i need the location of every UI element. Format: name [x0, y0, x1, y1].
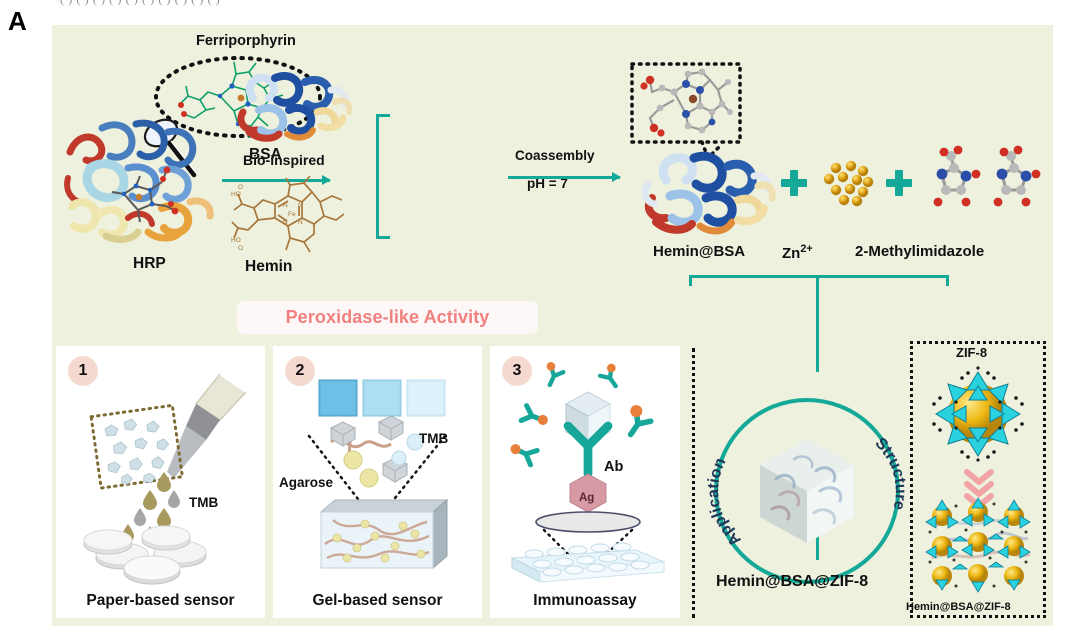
plus-sign-1	[781, 170, 807, 196]
peroxidase-activity-text: Peroxidase-like Activity	[237, 301, 538, 334]
svg-text:O: O	[238, 184, 243, 191]
zif8-title: ZIF-8	[956, 345, 987, 360]
coassembly-label: Coassembly	[515, 148, 595, 163]
wheel-label-structure: Structure	[714, 398, 900, 584]
bsa-protein-structure	[235, 68, 355, 148]
figure-root: ( ) ( ) ( ) ( ) ( ) ( ) ( ) ( ) ( ) ( ) …	[0, 0, 1080, 638]
methylimidazole-label: 2-Methylimidazole	[855, 243, 984, 260]
hemin-label: Hemin	[245, 258, 292, 276]
paper-sensor-illustration	[70, 368, 252, 583]
tmb-annotation-card1: TMB	[189, 495, 218, 510]
wheel-caption: Hemin@BSA@ZIF-8	[716, 573, 868, 591]
application-card-immunoassay[interactable]: 3	[490, 346, 680, 618]
card-title-paper-sensor: Paper-based sensor	[56, 592, 265, 610]
zinc-label: Zn2+	[782, 243, 813, 262]
ferriporphyrin-label: Ferriporphyrin	[196, 33, 296, 49]
ag-annotation: Ag	[579, 492, 594, 504]
svg-text:Fe: Fe	[288, 211, 296, 218]
hrp-protein-structure	[62, 110, 222, 250]
immunoassay-illustration	[498, 362, 672, 584]
hemin-bsa-structure	[640, 150, 776, 242]
application-card-paper-sensor[interactable]: 1	[56, 346, 265, 618]
svg-text:N: N	[298, 202, 303, 209]
peroxidase-activity-banner: Peroxidase-like Activity	[237, 301, 538, 334]
svg-text:N: N	[298, 219, 303, 226]
ab-annotation: Ab	[604, 459, 623, 475]
tmb-annotation-card2: TMB	[419, 431, 448, 446]
card-title-immunoassay: Immunoassay	[490, 592, 680, 610]
svg-text:N: N	[283, 219, 288, 226]
card-title-gel-sensor: Gel-based sensor	[273, 592, 482, 610]
application-card-gel-sensor[interactable]: 2	[273, 346, 482, 618]
zif8-product-label: Hemin@BSA@ZIF-8	[906, 601, 1011, 613]
product-bracket-left-tick	[689, 275, 692, 286]
hemin-bsa-label: Hemin@BSA	[653, 243, 745, 260]
coassembly-arrow	[508, 176, 620, 179]
zinc-symbol: Zn	[782, 245, 800, 262]
clipped-header-strip: ( ) ( ) ( ) ( ) ( ) ( ) ( ) ( ) ( ) ( )	[0, 0, 1080, 12]
coassembly-bracket-vertical	[376, 114, 379, 239]
coassembly-bracket-bottom	[376, 236, 390, 239]
bsa-label: BSA	[249, 146, 282, 164]
svg-text:O: O	[238, 245, 243, 252]
plus-sign-2	[886, 170, 912, 196]
product-bracket-horizontal	[689, 275, 949, 278]
section-divider	[692, 348, 695, 618]
product-bracket-right-tick	[946, 275, 949, 286]
clipped-header-text: ( ) ( ) ( ) ( ) ( ) ( ) ( ) ( ) ( ) ( )	[60, 0, 220, 6]
svg-text:HO: HO	[231, 237, 241, 244]
svg-text:HO: HO	[231, 191, 241, 198]
hemin-bsa-zif8-lattice-icon	[920, 498, 1036, 594]
agarose-annotation: Agarose	[279, 475, 333, 490]
panel-letter: A	[8, 8, 26, 34]
methylimidazole-molecules	[920, 148, 1048, 220]
zinc-charge: 2+	[800, 243, 812, 255]
zif8-particle-icon	[922, 362, 1034, 466]
svg-text:N: N	[283, 202, 288, 209]
coassembly-bracket-top	[376, 114, 390, 117]
hrp-label: HRP	[133, 255, 166, 273]
hemin-chemical-structure: HOHO NN NN Fe OO	[230, 180, 360, 260]
zinc-ion-cluster	[818, 160, 878, 208]
product-bracket-stem-upper	[816, 277, 819, 372]
